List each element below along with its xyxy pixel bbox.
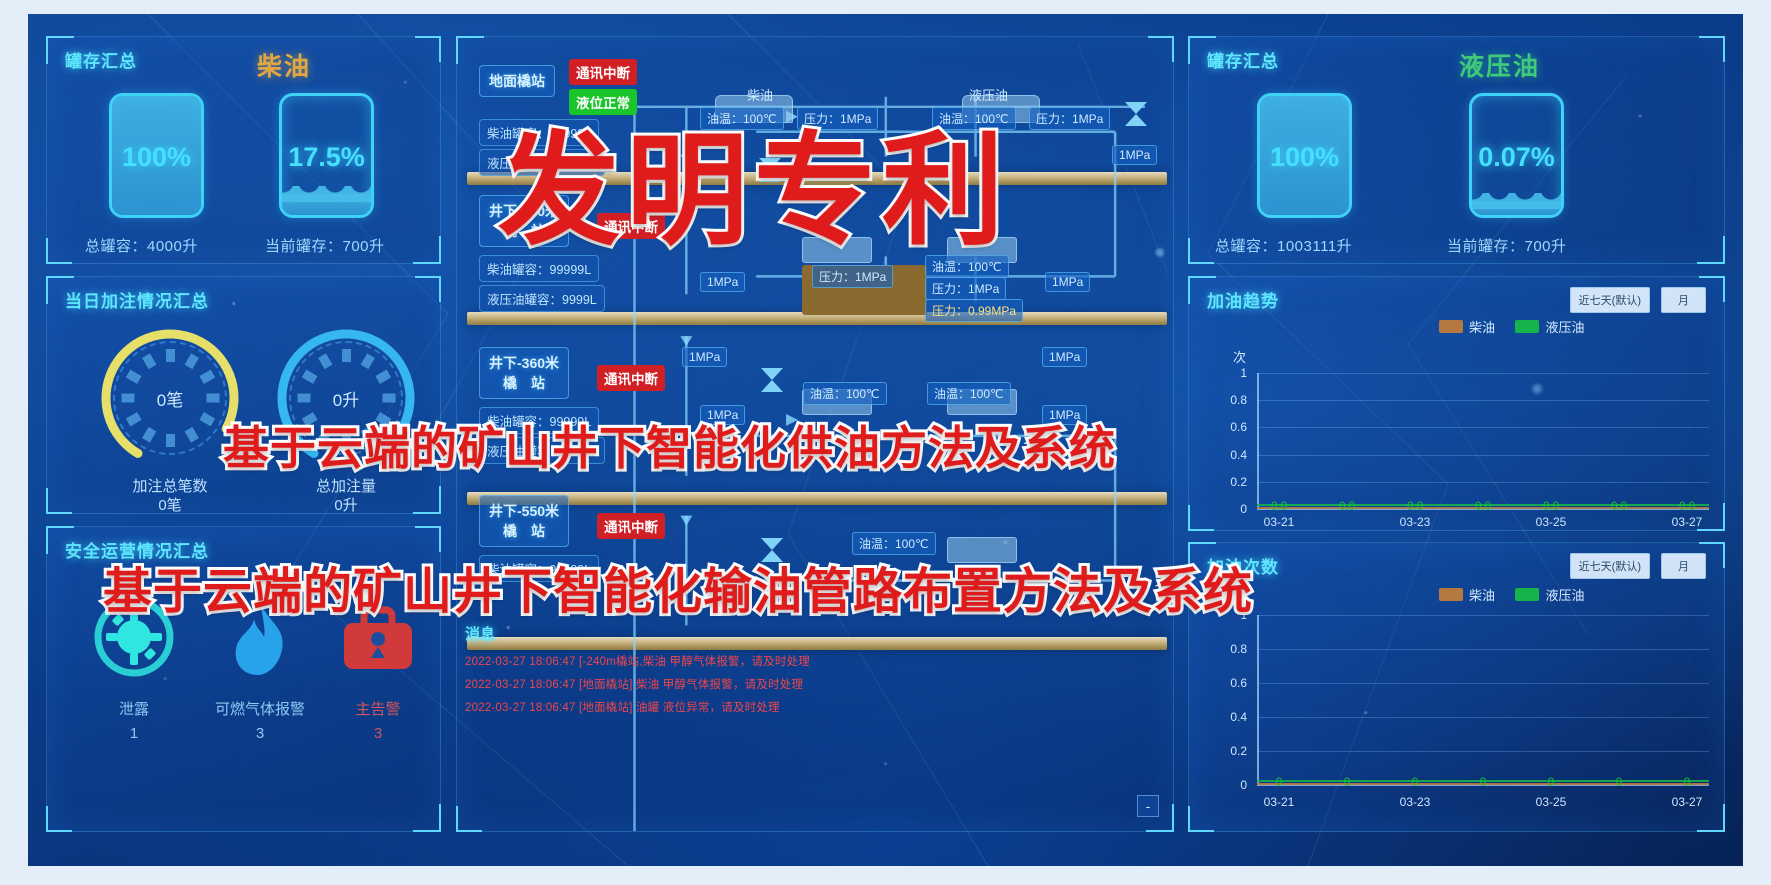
point-label: 0.0 xyxy=(1271,501,1287,513)
tank-percent-value: 17.5% xyxy=(282,142,371,173)
x-tick-label: 03-23 xyxy=(1400,515,1431,529)
tank-percent-value: 100% xyxy=(112,142,201,173)
station-badge-comm-interrupt: 通讯中断 xyxy=(569,59,637,85)
y-tick-label: 1 xyxy=(1217,366,1247,380)
message-log: 消息 2022-03-27 18:06:47 [-240m橇站,柴油 甲醇气体报… xyxy=(465,623,1165,733)
station-badge-comm-interrupt: 通讯中断 xyxy=(597,513,665,539)
range-button-seven-days[interactable]: 近七天(默认) xyxy=(1570,287,1650,313)
y-tick-label: 0.2 xyxy=(1217,744,1247,758)
chart-plot-area-count xyxy=(1257,615,1709,785)
right-tank-summary-panel: 罐存汇总 液压油 100% 0.07% 总罐容：1003111升 当前罐存：70… xyxy=(1188,36,1725,264)
x-tick-label: 03-25 xyxy=(1536,515,1567,529)
range-button-month[interactable]: 月 xyxy=(1661,287,1706,313)
grid-line xyxy=(1257,649,1709,650)
legend-item-hydraulic[interactable]: 液压油 xyxy=(1515,585,1584,604)
station-tag-hydraulic-capacity: 液压油罐容：9999L xyxy=(479,285,605,312)
mpa-tag: 1MPa xyxy=(1045,272,1090,292)
x-tick-label: 03-27 xyxy=(1672,515,1703,529)
x-tick-label: 03-21 xyxy=(1264,795,1295,809)
chart-plot-area-trend xyxy=(1257,373,1709,509)
point-label: 0.0 xyxy=(1611,501,1627,513)
message-log-line: 2022-03-27 18:06:47 [地面橇站] 柴油 甲醇气体报警，请及时… xyxy=(465,676,1165,692)
message-log-line: 2022-03-27 18:06:47 [-240m橇站,柴油 甲醇气体报警，请… xyxy=(465,653,1165,669)
safety-value-gas-alarm: 3 xyxy=(195,725,325,742)
grid-line xyxy=(1257,482,1709,483)
safety-label-leak: 泄露 xyxy=(69,698,199,719)
watermark-patent-title: 发明专利 xyxy=(498,92,1010,269)
tank-fill xyxy=(1472,201,1561,215)
legend-swatch xyxy=(1439,320,1463,333)
mpa-tag: 1MPa xyxy=(1042,347,1087,367)
panel-corner xyxy=(1188,238,1214,264)
tank-wave xyxy=(279,186,374,202)
y-tick-label: 0 xyxy=(1217,502,1247,516)
gauge-caption-line1: 加注总笔数 xyxy=(75,477,265,496)
point-label: 0.0 xyxy=(1679,501,1695,513)
daily-refuel-panel: 当日加注情况汇总 0笔 加注总笔数 0笔 xyxy=(46,276,441,514)
chart-y-axis xyxy=(1257,373,1259,509)
left-tank-summary-panel: 罐存汇总 柴油 100% 17.5% 总罐容：4000升 当前罐存：700升 xyxy=(46,36,441,264)
tank-total-capacity-label: 总罐容：4000升 xyxy=(85,235,198,256)
grid-line xyxy=(1257,751,1709,752)
station-badge-comm-interrupt: 通讯中断 xyxy=(597,365,665,391)
point-label: 0 xyxy=(1276,777,1282,789)
panel-corner xyxy=(1188,806,1214,832)
chart-y-axis xyxy=(1257,615,1259,785)
message-log-title: 消息 xyxy=(465,623,1165,644)
product-label-diesel: 柴油 xyxy=(257,47,311,83)
tank-fill xyxy=(282,194,371,215)
panel-title-daily-refuel: 当日加注情况汇总 xyxy=(65,287,209,312)
range-button-month[interactable]: 月 xyxy=(1661,553,1706,579)
station-name-line2: 橇 站 xyxy=(489,521,559,541)
readout-pressure-2: 压力：1MPa xyxy=(1029,107,1110,130)
point-label: 0.0 xyxy=(1407,501,1423,513)
station-name-line1: 井下-360米 xyxy=(489,353,559,373)
safety-label-main-alarm: 主告警 xyxy=(313,698,443,719)
station-name-line2: 橇 站 xyxy=(489,373,559,393)
x-tick-label: 03-23 xyxy=(1400,795,1431,809)
point-label: 0 xyxy=(1684,777,1690,789)
station-name-line1: 井下-550米 xyxy=(489,501,559,521)
x-tick-label: 03-25 xyxy=(1536,795,1567,809)
point-label: 0.0 xyxy=(1475,501,1491,513)
legend-swatch xyxy=(1515,588,1539,601)
message-log-line: 2022-03-27 18:06:47 [地面橇站] 油罐 液位异常，请及时处理 xyxy=(465,699,1165,715)
panel-corner xyxy=(46,806,72,832)
legend-swatch xyxy=(1439,588,1463,601)
y-tick-label: 0.4 xyxy=(1217,710,1247,724)
legend-label: 柴油 xyxy=(1469,585,1495,604)
panel-corner xyxy=(46,488,72,514)
y-tick-label: 0.6 xyxy=(1217,420,1247,434)
grid-line xyxy=(1257,615,1709,616)
tank-percent-value: 0.07% xyxy=(1472,142,1561,173)
point-label: 0 xyxy=(1480,777,1486,789)
panel-title-tank-summary-left: 罐存汇总 xyxy=(65,47,137,72)
valve-icon xyxy=(1123,99,1149,129)
safety-value-main-alarm: 3 xyxy=(313,725,443,742)
watermark-line-2: 基于云端的矿山井下智能化输油管路布置方法及系统 xyxy=(103,552,1253,623)
tank-total-capacity-label: 总罐容：1003111升 xyxy=(1215,235,1352,256)
legend-label: 液压油 xyxy=(1545,585,1584,604)
gauge-caption-line2: 0笔 xyxy=(75,496,265,515)
legend-label: 液压油 xyxy=(1545,317,1584,336)
refuel-trend-chart-panel: 加油趋势 近七天(默认) 月 柴油 液压油 次 xyxy=(1188,276,1725,531)
station-name-minus550[interactable]: 井下-550米 橇 站 xyxy=(479,495,569,547)
panel-corner xyxy=(1699,36,1725,62)
tank-current-stock-label: 当前罐存：700升 xyxy=(1447,235,1567,256)
tank-gauge-total-hydraulic: 100% xyxy=(1257,93,1352,218)
tank-gauge-total-diesel: 100% xyxy=(109,93,204,218)
safety-value-leak: 1 xyxy=(69,725,199,742)
dashboard-screen: 罐存汇总 柴油 100% 17.5% 总罐容：4000升 当前罐存：700升 当… xyxy=(28,14,1743,866)
y-tick-label: 0.8 xyxy=(1217,393,1247,407)
grid-line xyxy=(1257,427,1709,428)
point-label: 0.0 xyxy=(1543,501,1559,513)
legend-item-diesel[interactable]: 柴油 xyxy=(1439,317,1495,336)
readout-pressure-4: 压力：1MPa xyxy=(925,277,1006,300)
panel-title-trend: 加油趋势 xyxy=(1207,287,1279,312)
mpa-tag: 1MPa xyxy=(700,272,745,292)
refuel-count-chart-panel: 加油次数 近七天(默认) 月 柴油 液压油 1 0.8 xyxy=(1188,542,1725,832)
point-label: 0 xyxy=(1412,777,1418,789)
y-tick-label: 0.4 xyxy=(1217,448,1247,462)
point-label: 0 xyxy=(1616,777,1622,789)
outer-frame: 罐存汇总 柴油 100% 17.5% 总罐容：4000升 当前罐存：700升 当… xyxy=(0,0,1771,885)
y-tick-label: 0.2 xyxy=(1217,475,1247,489)
panel-corner xyxy=(46,238,72,264)
gauge-refuel-volume-caption: 总加注量 0升 xyxy=(251,477,441,515)
point-label: 0 xyxy=(1344,777,1350,789)
mpa-tag: 1MPa xyxy=(1112,145,1157,165)
tank-current-stock-label: 当前罐存：700升 xyxy=(265,235,385,256)
y-tick-label: 0.8 xyxy=(1217,642,1247,656)
grid-line xyxy=(1257,373,1709,374)
station-name-minus360[interactable]: 井下-360米 橇 站 xyxy=(479,347,569,399)
readout-oil-temp-5: 油温：100℃ xyxy=(927,382,1011,405)
mpa-tag: 1MPa xyxy=(682,347,727,367)
grid-line xyxy=(1257,400,1709,401)
legend-item-hydraulic[interactable]: 液压油 xyxy=(1515,317,1584,336)
safety-label-gas-alarm: 可燃气体报警 xyxy=(195,698,325,719)
panel-corner xyxy=(415,526,441,552)
panel-title-tank-summary-right: 罐存汇总 xyxy=(1207,47,1279,72)
panel-corner xyxy=(415,36,441,62)
legend-label: 柴油 xyxy=(1469,317,1495,336)
gauge-refuel-count-caption: 加注总笔数 0笔 xyxy=(75,477,265,515)
legend-item-diesel[interactable]: 柴油 xyxy=(1439,585,1495,604)
tank-percent-value: 100% xyxy=(1260,142,1349,173)
gauge-caption-line1: 总加注量 xyxy=(251,477,441,496)
watermark-line-1: 基于云端的矿山井下智能化供油方法及系统 xyxy=(223,412,1116,478)
point-label: 0.0 xyxy=(1339,501,1355,513)
readout-pressure-5: 压力：0.99MPa xyxy=(925,299,1023,322)
x-tick-label: 03-27 xyxy=(1672,795,1703,809)
gauge-caption-line2: 0升 xyxy=(251,496,441,515)
zoom-out-button[interactable]: - xyxy=(1137,795,1159,817)
chart-y-axis-name: 次 xyxy=(1233,347,1246,366)
grid-line xyxy=(1257,717,1709,718)
grid-line xyxy=(1257,455,1709,456)
chart-legend-trend: 柴油 液压油 xyxy=(1439,317,1600,338)
x-tick-label: 03-21 xyxy=(1264,515,1295,529)
panel-corner xyxy=(415,276,441,302)
y-tick-label: 0 xyxy=(1217,778,1247,792)
y-tick-label: 0.6 xyxy=(1217,676,1247,690)
product-label-hydraulic: 液压油 xyxy=(1459,47,1540,83)
valve-icon xyxy=(759,365,785,395)
readout-oil-temp-4: 油温：100℃ xyxy=(803,382,887,405)
chart-legend-count: 柴油 液压油 xyxy=(1439,585,1600,606)
tank-gauge-current-diesel: 17.5% xyxy=(279,93,374,218)
range-button-seven-days[interactable]: 近七天(默认) xyxy=(1570,553,1650,579)
tank-gauge-current-hydraulic: 0.07% xyxy=(1469,93,1564,218)
point-label: 0 xyxy=(1548,777,1554,789)
panel-corner xyxy=(1188,505,1214,531)
tank-wave xyxy=(1469,193,1564,209)
legend-swatch xyxy=(1515,320,1539,333)
grid-line xyxy=(1257,683,1709,684)
